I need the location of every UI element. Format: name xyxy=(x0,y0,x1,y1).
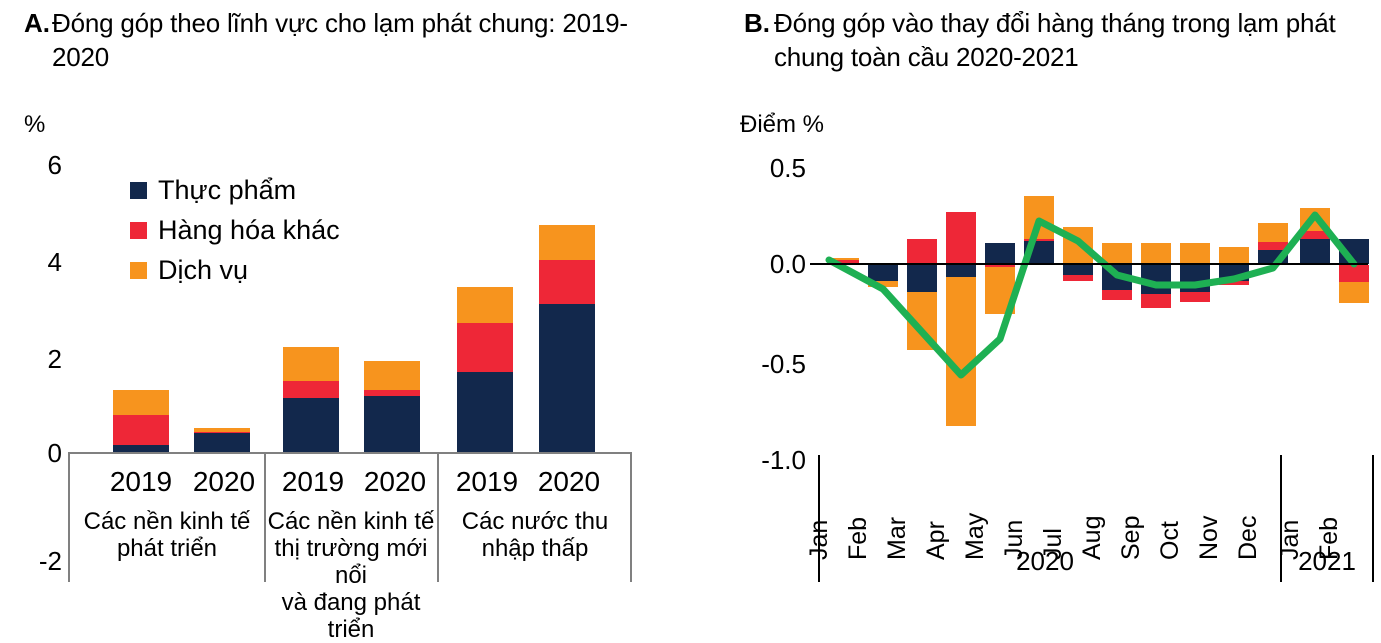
xtick-month-feb-2020: Feb xyxy=(846,517,871,560)
figure-root: A. Đóng góp theo lĩnh vực cho lạm phát c… xyxy=(0,0,1381,605)
bar-2020-feb-demand xyxy=(868,281,898,287)
bar-lic-2019-services xyxy=(457,287,513,323)
bar-2020-may-demand xyxy=(985,267,1015,314)
bar-emde-2019-services xyxy=(283,347,339,381)
bar-2020-apr-demand xyxy=(946,277,976,426)
xtick-ae-2020: 2020 xyxy=(176,467,272,497)
bar-2020-dec-oil xyxy=(1258,250,1288,264)
bar-2020-aug-supply xyxy=(1102,290,1132,300)
panel-a-axis-left xyxy=(68,452,70,582)
bar-2020-sep-supply xyxy=(1141,294,1171,308)
bar-2020-nov-supply xyxy=(1219,281,1249,285)
xaxis-year-2020: 2020 xyxy=(990,547,1100,575)
xtick-month-mar-2020: Mar xyxy=(885,517,910,560)
xtick-month-may-2020: May xyxy=(963,513,988,560)
bar-2020-dec-supply xyxy=(1258,242,1288,250)
bar-emde-2020-food xyxy=(364,396,420,453)
xtick-month-apr-2020: Apr xyxy=(924,521,949,560)
bar-2020-feb-oil xyxy=(868,265,898,281)
bar-2020-apr-oil xyxy=(946,265,976,277)
bar-2020-may-oil xyxy=(985,243,1015,264)
bar-ae-2019-other-goods xyxy=(113,415,169,445)
bar-ae-2020-other-goods xyxy=(194,432,250,433)
bar-2020-nov-oil xyxy=(1219,265,1249,281)
bar-2021-jan-oil xyxy=(1300,239,1330,264)
panel-b-axis-left xyxy=(818,455,820,582)
bar-2020-jun-demand xyxy=(1024,196,1054,239)
bar-2020-jan-demand xyxy=(829,258,859,260)
bar-2020-nov-demand xyxy=(1219,247,1249,264)
inflation-line-series xyxy=(700,0,1381,605)
bar-lic-2019-food xyxy=(457,372,513,453)
bar-ae-2019-services xyxy=(113,390,169,415)
bar-2020-jul-oil xyxy=(1063,265,1093,275)
bar-2020-sep-demand xyxy=(1141,243,1171,264)
panel-a: A. Đóng góp theo lĩnh vực cho lạm phát c… xyxy=(0,0,700,605)
bar-lic-2020-food xyxy=(539,304,595,453)
xtick-ae-2019: 2019 xyxy=(93,467,189,497)
panel-b-zero-line xyxy=(810,263,1368,265)
xtick-emde-2020: 2020 xyxy=(347,467,443,497)
xtick-month-sep-2020: Sep xyxy=(1119,516,1144,560)
bar-lic-2020-other-goods xyxy=(539,260,595,304)
xtick-month-dec-2020: Dec xyxy=(1236,516,1261,560)
panel-b: B. Đóng góp vào thay đổi hàng tháng tron… xyxy=(700,0,1381,605)
group-label-emde: Các nền kinh tế thị trường mới nổi và đa… xyxy=(267,508,435,643)
bar-2020-oct-supply xyxy=(1180,292,1210,302)
group-label-advanced-economies: Các nền kinh tế phát triển xyxy=(72,508,262,562)
bar-2020-jun-oil xyxy=(1024,241,1054,264)
panel-b-plot xyxy=(700,0,1381,605)
bar-2020-sep-oil xyxy=(1141,265,1171,294)
bar-2020-dec-demand xyxy=(1258,223,1288,242)
bar-emde-2019-other-goods xyxy=(283,381,339,398)
bar-lic-2019-other-goods xyxy=(457,323,513,372)
bar-2020-jun-supply xyxy=(1024,239,1054,241)
xaxis-year-2021: 2021 xyxy=(1272,547,1381,575)
bar-2020-mar-demand xyxy=(907,292,937,350)
panel-a-axis-right xyxy=(630,452,632,582)
xtick-month-oct-2020: Oct xyxy=(1158,521,1183,560)
bar-2021-feb-demand xyxy=(1339,282,1369,303)
bar-2020-apr-supply xyxy=(946,212,976,264)
bar-2020-aug-demand xyxy=(1102,243,1132,264)
xtick-month-nov-2020: Nov xyxy=(1197,516,1222,560)
xtick-month-jan-2020: Jan xyxy=(807,520,832,560)
bar-lic-2020-services xyxy=(539,225,595,260)
bar-2021-jan-supply xyxy=(1300,231,1330,239)
bar-emde-2020-services xyxy=(364,361,420,390)
bar-2020-aug-oil xyxy=(1102,265,1132,290)
bar-2021-feb-supply xyxy=(1339,265,1369,282)
group-label-low-income: Các nước thu nhập thấp xyxy=(442,508,628,562)
bar-2020-mar-supply xyxy=(907,239,937,264)
bar-ae-2020-food xyxy=(194,433,250,453)
bar-2021-feb-oil xyxy=(1339,239,1369,264)
panel-a-axis-baseline xyxy=(68,452,631,454)
bar-2020-oct-demand xyxy=(1180,243,1210,264)
bar-ae-2020-services xyxy=(194,428,250,432)
xtick-lic-2020: 2020 xyxy=(521,467,617,497)
bar-emde-2019-food xyxy=(283,398,339,453)
bar-emde-2020-other-goods xyxy=(364,390,420,396)
bar-2020-mar-oil xyxy=(907,265,937,292)
bar-2020-oct-oil xyxy=(1180,265,1210,292)
bar-2020-jul-supply xyxy=(1063,275,1093,281)
bar-2020-jul-demand xyxy=(1063,227,1093,264)
bar-2021-jan-demand xyxy=(1300,208,1330,231)
